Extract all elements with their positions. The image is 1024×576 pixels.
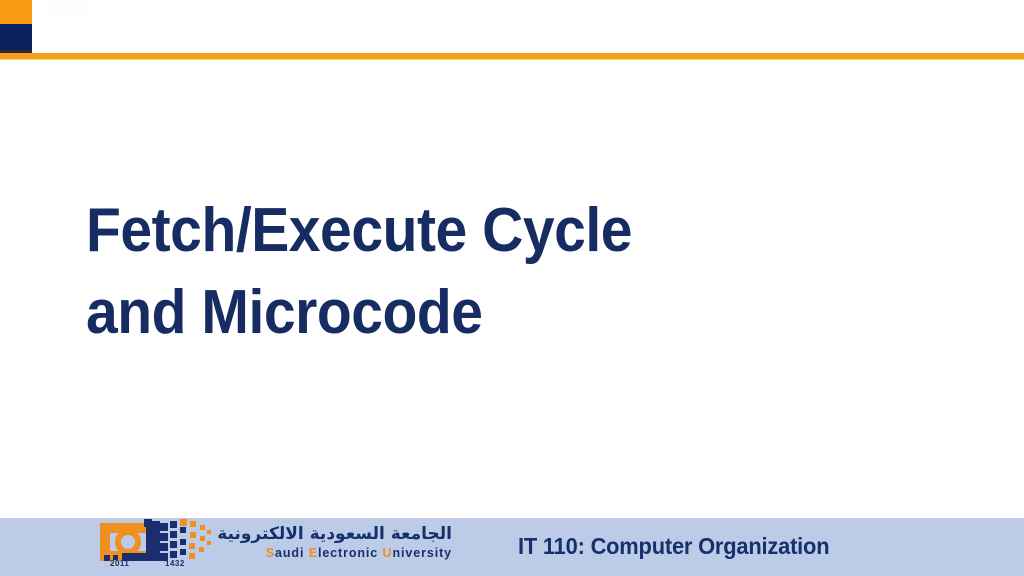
logo-year-hijri: 1432	[165, 559, 185, 568]
presentation-slide: Fetch/Execute Cycle and Microcode	[0, 0, 1024, 576]
slide-footer: 2011 1432 الجامعة السعودية الالكترونية S…	[0, 518, 1024, 576]
top-faint-artifact	[44, 2, 90, 14]
corner-accent-navy	[0, 24, 32, 50]
university-name-english: Saudi Electronic University	[222, 545, 452, 562]
corner-accent-orange	[0, 0, 32, 24]
header-divider-rule-soft	[0, 59, 1024, 60]
page-title-line-2: and Microcode	[86, 272, 850, 354]
footer-content: 2011 1432 الجامعة السعودية الالكترونية S…	[0, 518, 1024, 576]
logo-year-gregorian: 2011	[110, 559, 129, 568]
page-title: Fetch/Execute Cycle and Microcode	[86, 190, 916, 354]
university-logo: 2011 1432	[92, 519, 214, 575]
university-name: الجامعة السعودية الالكترونية Saudi Elect…	[222, 524, 452, 562]
university-name-arabic: الجامعة السعودية الالكترونية	[222, 524, 452, 545]
uni-initial-e: E	[309, 546, 318, 560]
at-symbol-pixel-icon	[92, 519, 214, 563]
uni-initial-s: S	[266, 546, 275, 560]
page-title-line-1: Fetch/Execute Cycle	[86, 190, 850, 272]
course-title: IT 110: Computer Organization	[518, 531, 829, 561]
uni-initial-u: U	[383, 546, 393, 560]
logo-founding-years: 2011 1432	[92, 559, 214, 573]
